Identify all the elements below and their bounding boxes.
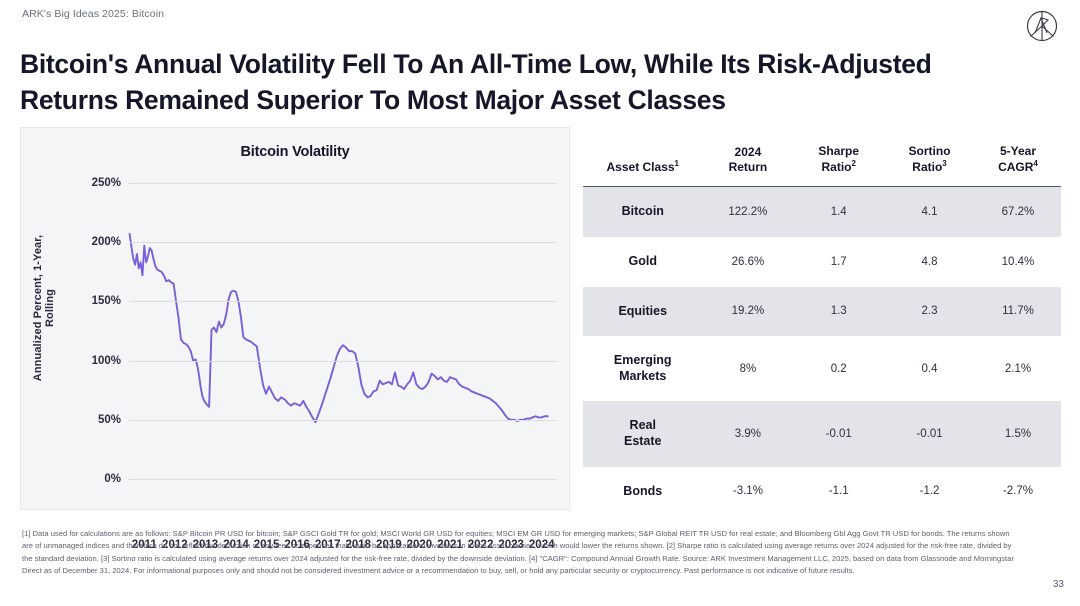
table-column-header: SortinoRatio3 [884, 140, 975, 187]
breadcrumb-eyebrow: ARK's Big Ideas 2025: Bitcoin [22, 8, 164, 20]
asset-class-cell: Gold [583, 237, 703, 287]
sortino-ratio-cell: 4.8 [884, 237, 975, 287]
sharpe-ratio-cell: -1.1 [793, 467, 884, 517]
chart-y-axis-ticks: 0%50%100%150%200%250% [67, 128, 121, 509]
sortino-ratio-cell: 4.1 [884, 187, 975, 237]
return-2024-cell: 3.9% [703, 401, 794, 466]
chart-x-axis-ticks: 2011201220132014201520162017201820192020… [129, 183, 557, 564]
asset-class-metrics-table: Asset Class12024ReturnSharpeRatio2Sortin… [583, 140, 1061, 516]
ark-invest-logo-icon [1022, 6, 1062, 46]
asset-class-cell: Bitcoin [583, 187, 703, 237]
footnotes-disclaimer: [1] Data used for calculations are as fo… [22, 528, 1017, 577]
page-number: 33 [1053, 579, 1064, 590]
chart-y-tick-label: 200% [67, 236, 121, 248]
sharpe-ratio-cell: 1.4 [793, 187, 884, 237]
table-row: EmergingMarkets8%0.20.42.1% [583, 336, 1061, 401]
return-2024-cell: 19.2% [703, 287, 794, 337]
table-row: Bonds-3.1%-1.1-1.2-2.7% [583, 467, 1061, 517]
return-2024-cell: 26.6% [703, 237, 794, 287]
table-row: Bitcoin122.2%1.44.167.2% [583, 187, 1061, 237]
five-year-cagr-cell: 10.4% [975, 237, 1061, 287]
five-year-cagr-cell: 67.2% [975, 187, 1061, 237]
table-row: Equities19.2%1.32.311.7% [583, 287, 1061, 337]
table-column-header: 2024Return [703, 140, 794, 187]
table-column-header: SharpeRatio2 [793, 140, 884, 187]
table-column-header: Asset Class1 [583, 140, 703, 187]
five-year-cagr-cell: -2.7% [975, 467, 1061, 517]
sharpe-ratio-cell: -0.01 [793, 401, 884, 466]
sharpe-ratio-cell: 0.2 [793, 336, 884, 401]
chart-y-axis-label: Annualized Percent, 1-Year, Rolling [32, 223, 56, 393]
chart-y-tick-label: 250% [67, 177, 121, 189]
five-year-cagr-cell: 2.1% [975, 336, 1061, 401]
bitcoin-volatility-chart-panel: Bitcoin Volatility Annualized Percent, 1… [20, 127, 570, 510]
chart-y-tick-label: 0% [67, 473, 121, 485]
chart-y-tick-label: 100% [67, 355, 121, 367]
return-2024-cell: 8% [703, 336, 794, 401]
asset-class-cell: Equities [583, 287, 703, 337]
asset-class-cell: RealEstate [583, 401, 703, 466]
sharpe-ratio-cell: 1.3 [793, 287, 884, 337]
return-2024-cell: -3.1% [703, 467, 794, 517]
asset-class-cell: Bonds [583, 467, 703, 517]
sharpe-ratio-cell: 1.7 [793, 237, 884, 287]
sortino-ratio-cell: 0.4 [884, 336, 975, 401]
table-row: Gold26.6%1.74.810.4% [583, 237, 1061, 287]
chart-y-tick-label: 150% [67, 295, 121, 307]
sortino-ratio-cell: 2.3 [884, 287, 975, 337]
chart-y-tick-label: 50% [67, 414, 121, 426]
return-2024-cell: 122.2% [703, 187, 794, 237]
five-year-cagr-cell: 1.5% [975, 401, 1061, 466]
sortino-ratio-cell: -1.2 [884, 467, 975, 517]
asset-class-cell: EmergingMarkets [583, 336, 703, 401]
five-year-cagr-cell: 11.7% [975, 287, 1061, 337]
table-header-row: Asset Class12024ReturnSharpeRatio2Sortin… [583, 140, 1061, 187]
table-row: RealEstate3.9%-0.01-0.011.5% [583, 401, 1061, 466]
page-title: Bitcoin's Annual Volatility Fell To An A… [20, 46, 1010, 119]
table-column-header: 5-YearCAGR4 [975, 140, 1061, 187]
table-body: Bitcoin122.2%1.44.167.2%Gold26.6%1.74.81… [583, 187, 1061, 517]
sortino-ratio-cell: -0.01 [884, 401, 975, 466]
